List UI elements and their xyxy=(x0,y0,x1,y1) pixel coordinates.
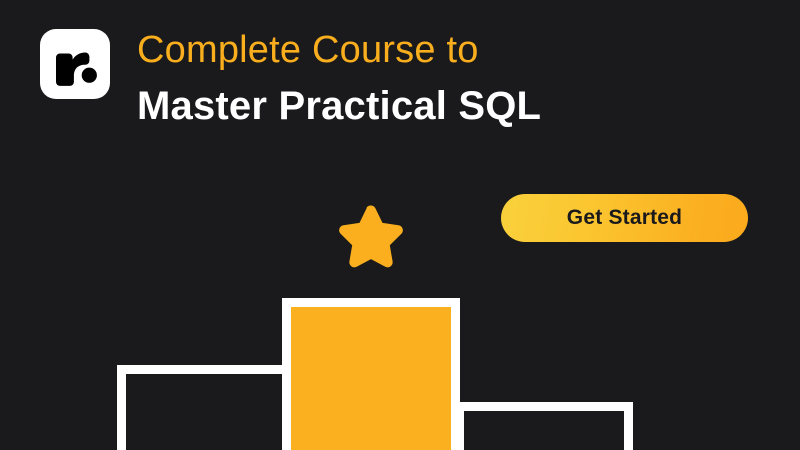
star-icon xyxy=(336,202,406,272)
headline: Complete Course to Master Practical SQL xyxy=(137,26,697,132)
podium-first-place xyxy=(282,298,460,450)
headline-line-1: Complete Course to xyxy=(137,26,697,74)
r-dot-logo-icon xyxy=(40,29,110,99)
headline-line-2: Master Practical SQL xyxy=(137,80,697,132)
podium-third-place xyxy=(455,402,633,450)
podium-second-place xyxy=(117,365,297,450)
get-started-button[interactable]: Get Started xyxy=(501,194,748,242)
promo-banner: Complete Course to Master Practical SQL … xyxy=(0,0,800,450)
brand-logo[interactable] xyxy=(40,29,110,99)
